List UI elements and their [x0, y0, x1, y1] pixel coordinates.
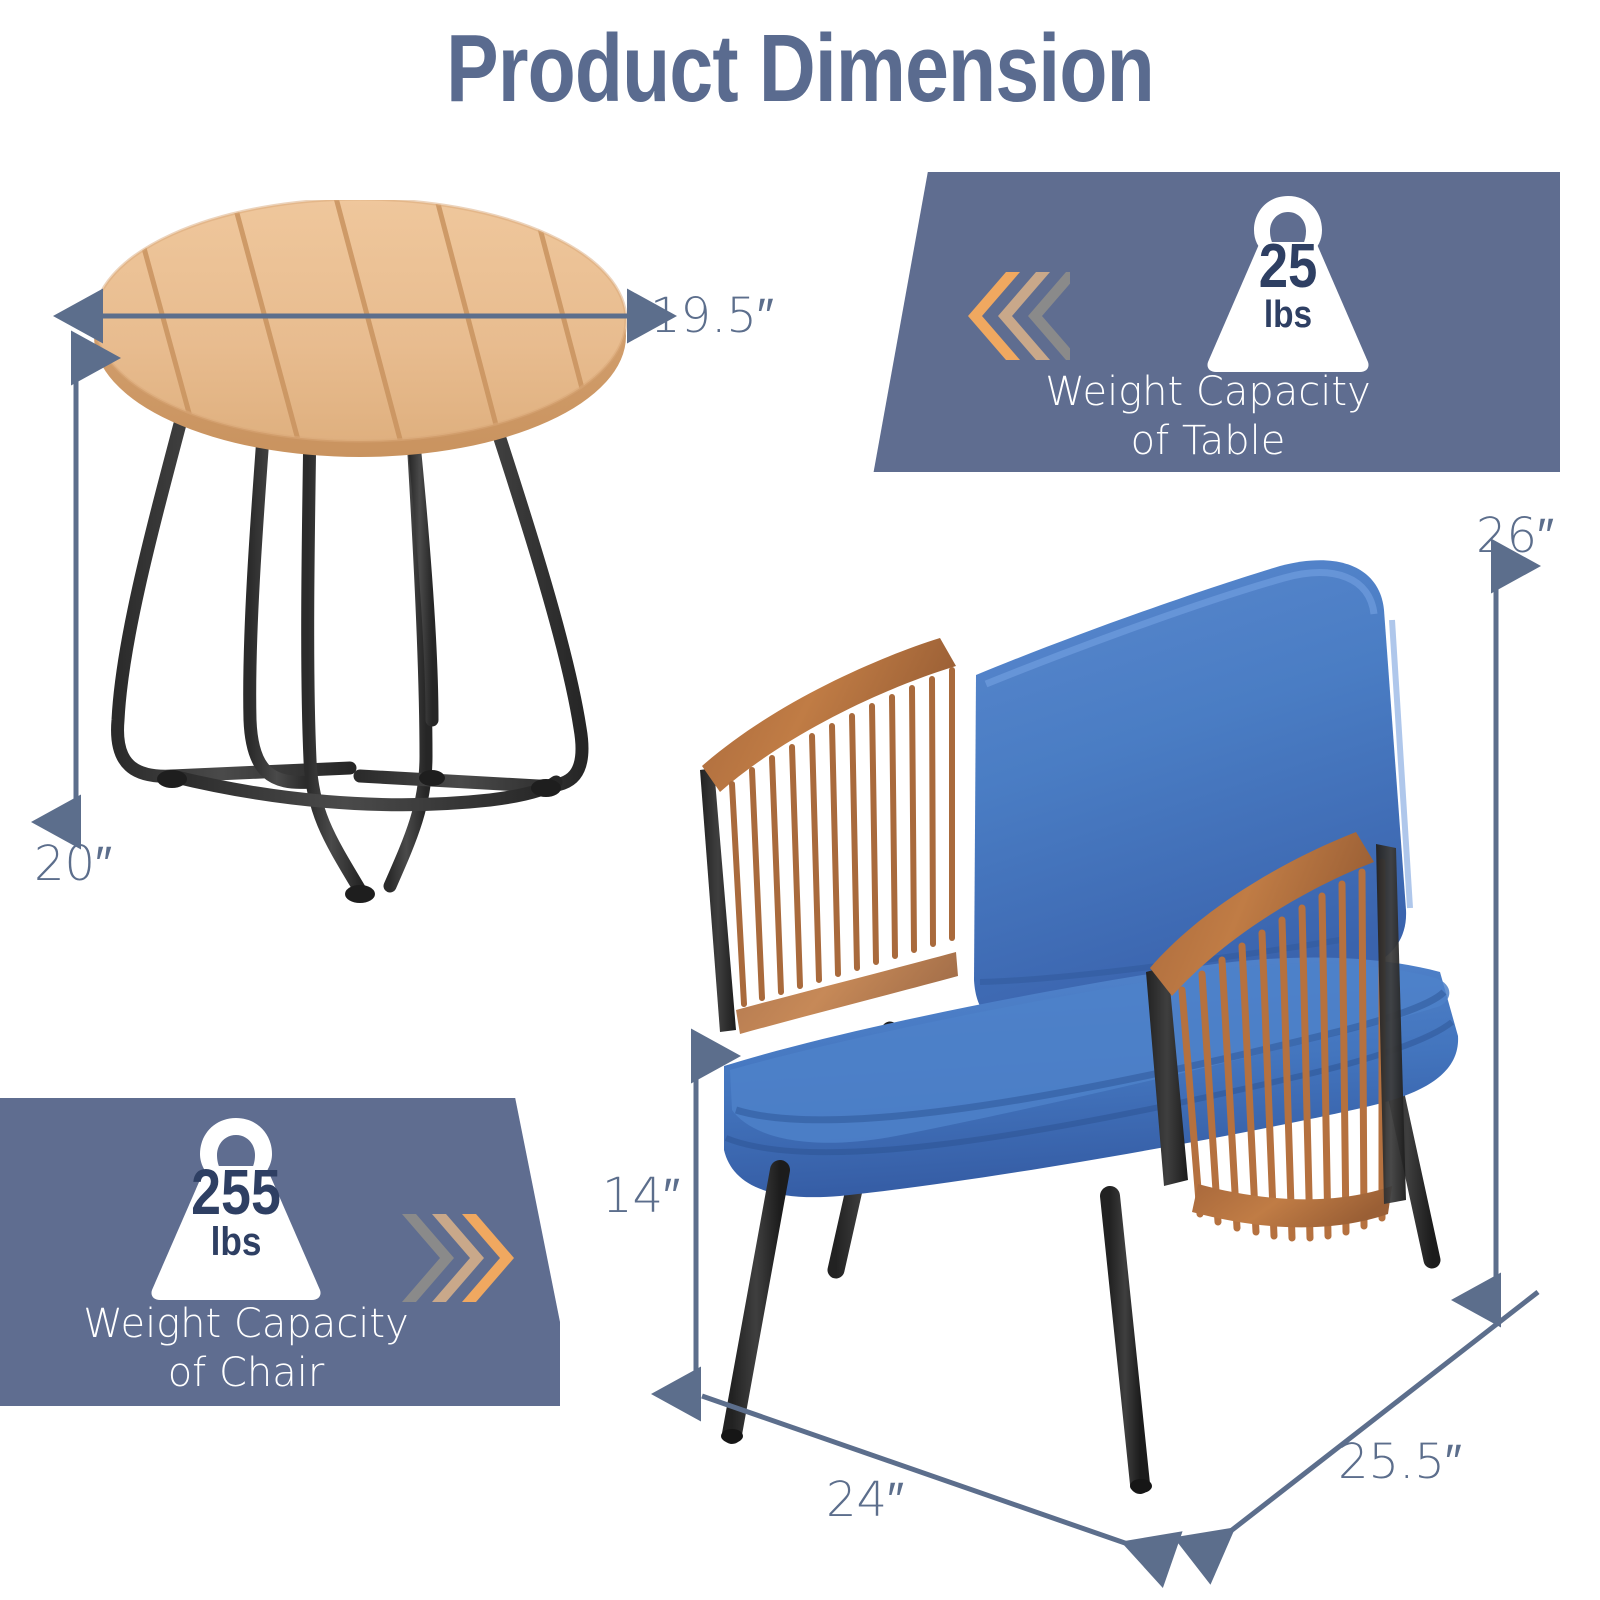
weight-capacity-chair-badge: 255 lbs Weight Capacity of Chair	[0, 1098, 560, 1406]
weight-icon: 25 lbs	[1192, 190, 1384, 381]
badge-caption-chair: Weight Capacity of Chair	[0, 1300, 526, 1398]
weight-unit: lbs	[148, 1222, 324, 1262]
chair-depth-label: 25.5″	[1338, 1434, 1462, 1490]
table-diameter-arrow	[80, 290, 680, 350]
chair-left-arm-panel	[700, 638, 958, 1034]
weight-icon: 255 lbs	[136, 1112, 336, 1309]
badge-caption-line2: of Chair	[0, 1349, 526, 1398]
badge-caption-line1: Weight Capacity	[856, 368, 1560, 417]
chair-seat-height-label: 14″	[602, 1168, 680, 1224]
table-legs	[118, 404, 583, 890]
badge-caption-line1: Weight Capacity	[0, 1300, 526, 1349]
chair-width-label: 24″	[826, 1472, 904, 1528]
weight-value: 255	[152, 1160, 320, 1224]
chevron-left-group	[960, 268, 1070, 369]
badge-caption-table: Weight Capacity of Table	[856, 368, 1560, 466]
badge-caption-line2: of Table	[856, 417, 1560, 466]
chevron-right-group	[398, 1210, 518, 1311]
weight-capacity-table-badge: 25 lbs Weight Capacity of Table	[856, 172, 1560, 472]
table-height-arrow	[50, 340, 110, 840]
page-title: Product Dimension	[144, 14, 1456, 124]
table-height-label: 20″	[34, 836, 112, 892]
weight-unit: lbs	[1204, 296, 1373, 334]
table-diameter-label: 19.5″	[650, 288, 774, 344]
weight-value: 25	[1206, 236, 1369, 298]
chair-back-height-arrow	[1468, 548, 1528, 1318]
chair-back-height-label: 26″	[1476, 508, 1554, 564]
